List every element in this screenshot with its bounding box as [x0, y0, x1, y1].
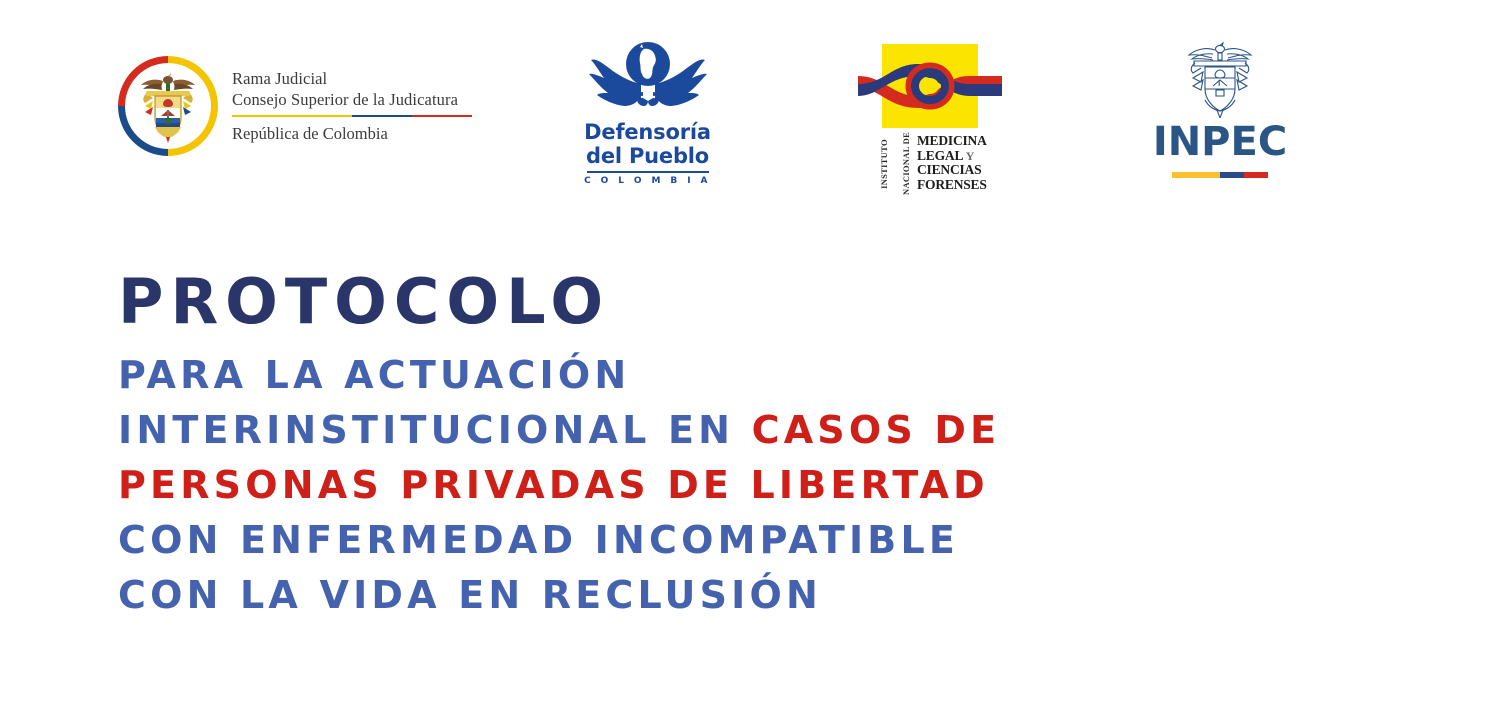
- subtitle-line-1: PARA LA ACTUACIÓN: [118, 348, 1218, 403]
- rama-judicial-text: Rama Judicial Consejo Superior de la Jud…: [232, 68, 472, 145]
- medicina-main-y: Y: [966, 149, 974, 163]
- medicina-main-line3: CIENCIAS: [917, 163, 987, 178]
- colombia-coat-of-arms-seal-icon: [118, 56, 218, 156]
- logo-inpec: INPEC: [1150, 40, 1290, 178]
- medicina-vertical-line1: INSTITUTO: [879, 133, 889, 195]
- medicina-main-line1: MEDICINA: [917, 134, 987, 149]
- defensoria-line2: del Pueblo: [575, 144, 720, 168]
- page-title: PROTOCOLO: [118, 268, 1218, 336]
- inpec-wordmark: INPEC: [1150, 120, 1290, 164]
- medicina-legal-vertical-text2: NACIONAL DE: [895, 133, 917, 195]
- medicina-vertical-line2: NACIONAL DE: [901, 133, 911, 195]
- logo-rama-judicial: Rama Judicial Consejo Superior de la Jud…: [118, 56, 472, 156]
- logo-medicina-legal: INSTITUTO NACIONAL DE MEDICINA LEGAL Y C…: [873, 44, 998, 195]
- document-title-block: PROTOCOLO PARA LA ACTUACIÓN INTERINSTITU…: [118, 268, 1218, 623]
- medicina-main-legal: LEGAL: [917, 148, 963, 163]
- medicina-legal-main-text: MEDICINA LEGAL Y CIENCIAS FORENSES: [917, 133, 987, 195]
- defensoria-divider: [587, 171, 709, 173]
- subtitle-line-2: INTERINSTITUCIONAL EN CASOS DE: [118, 403, 1218, 458]
- inpec-tricolor-bar: [1172, 172, 1268, 178]
- rama-judicial-line2: Consejo Superior de la Judicatura: [232, 89, 472, 110]
- colombia-coat-of-arms-outline-icon: [1183, 40, 1257, 118]
- logo-defensoria-del-pueblo: Defensoría del Pueblo C O L O M B I A: [575, 40, 720, 186]
- medicina-main-line4: FORENSES: [917, 178, 987, 193]
- subtitle-line-2-blue: INTERINSTITUCIONAL EN: [118, 408, 752, 452]
- subtitle-line-2-red: CASOS DE: [752, 408, 1001, 452]
- yellow-square-eye-ribbon-icon: [882, 44, 978, 128]
- rama-judicial-line3: República de Colombia: [232, 123, 472, 144]
- defensoria-country: C O L O M B I A: [575, 176, 720, 186]
- subtitle-line-4: CON ENFERMEDAD INCOMPATIBLE: [118, 513, 1218, 568]
- doves-with-colombia-map-icon: [583, 40, 713, 116]
- subtitle-line-3: PERSONAS PRIVADAS DE LIBERTAD: [118, 458, 1218, 513]
- institution-logo-row: Rama Judicial Consejo Superior de la Jud…: [0, 0, 1500, 205]
- tricolor-divider: [232, 115, 472, 118]
- subtitle-line-5: CON LA VIDA EN RECLUSIÓN: [118, 568, 1218, 623]
- medicina-main-line2: LEGAL Y: [917, 149, 987, 164]
- medicina-legal-vertical-text: INSTITUTO: [873, 133, 895, 195]
- cover-page: Rama Judicial Consejo Superior de la Jud…: [0, 0, 1500, 708]
- defensoria-line1: Defensoría: [575, 120, 720, 144]
- rama-judicial-line1: Rama Judicial: [232, 68, 472, 89]
- medicina-legal-text: INSTITUTO NACIONAL DE MEDICINA LEGAL Y C…: [873, 133, 998, 195]
